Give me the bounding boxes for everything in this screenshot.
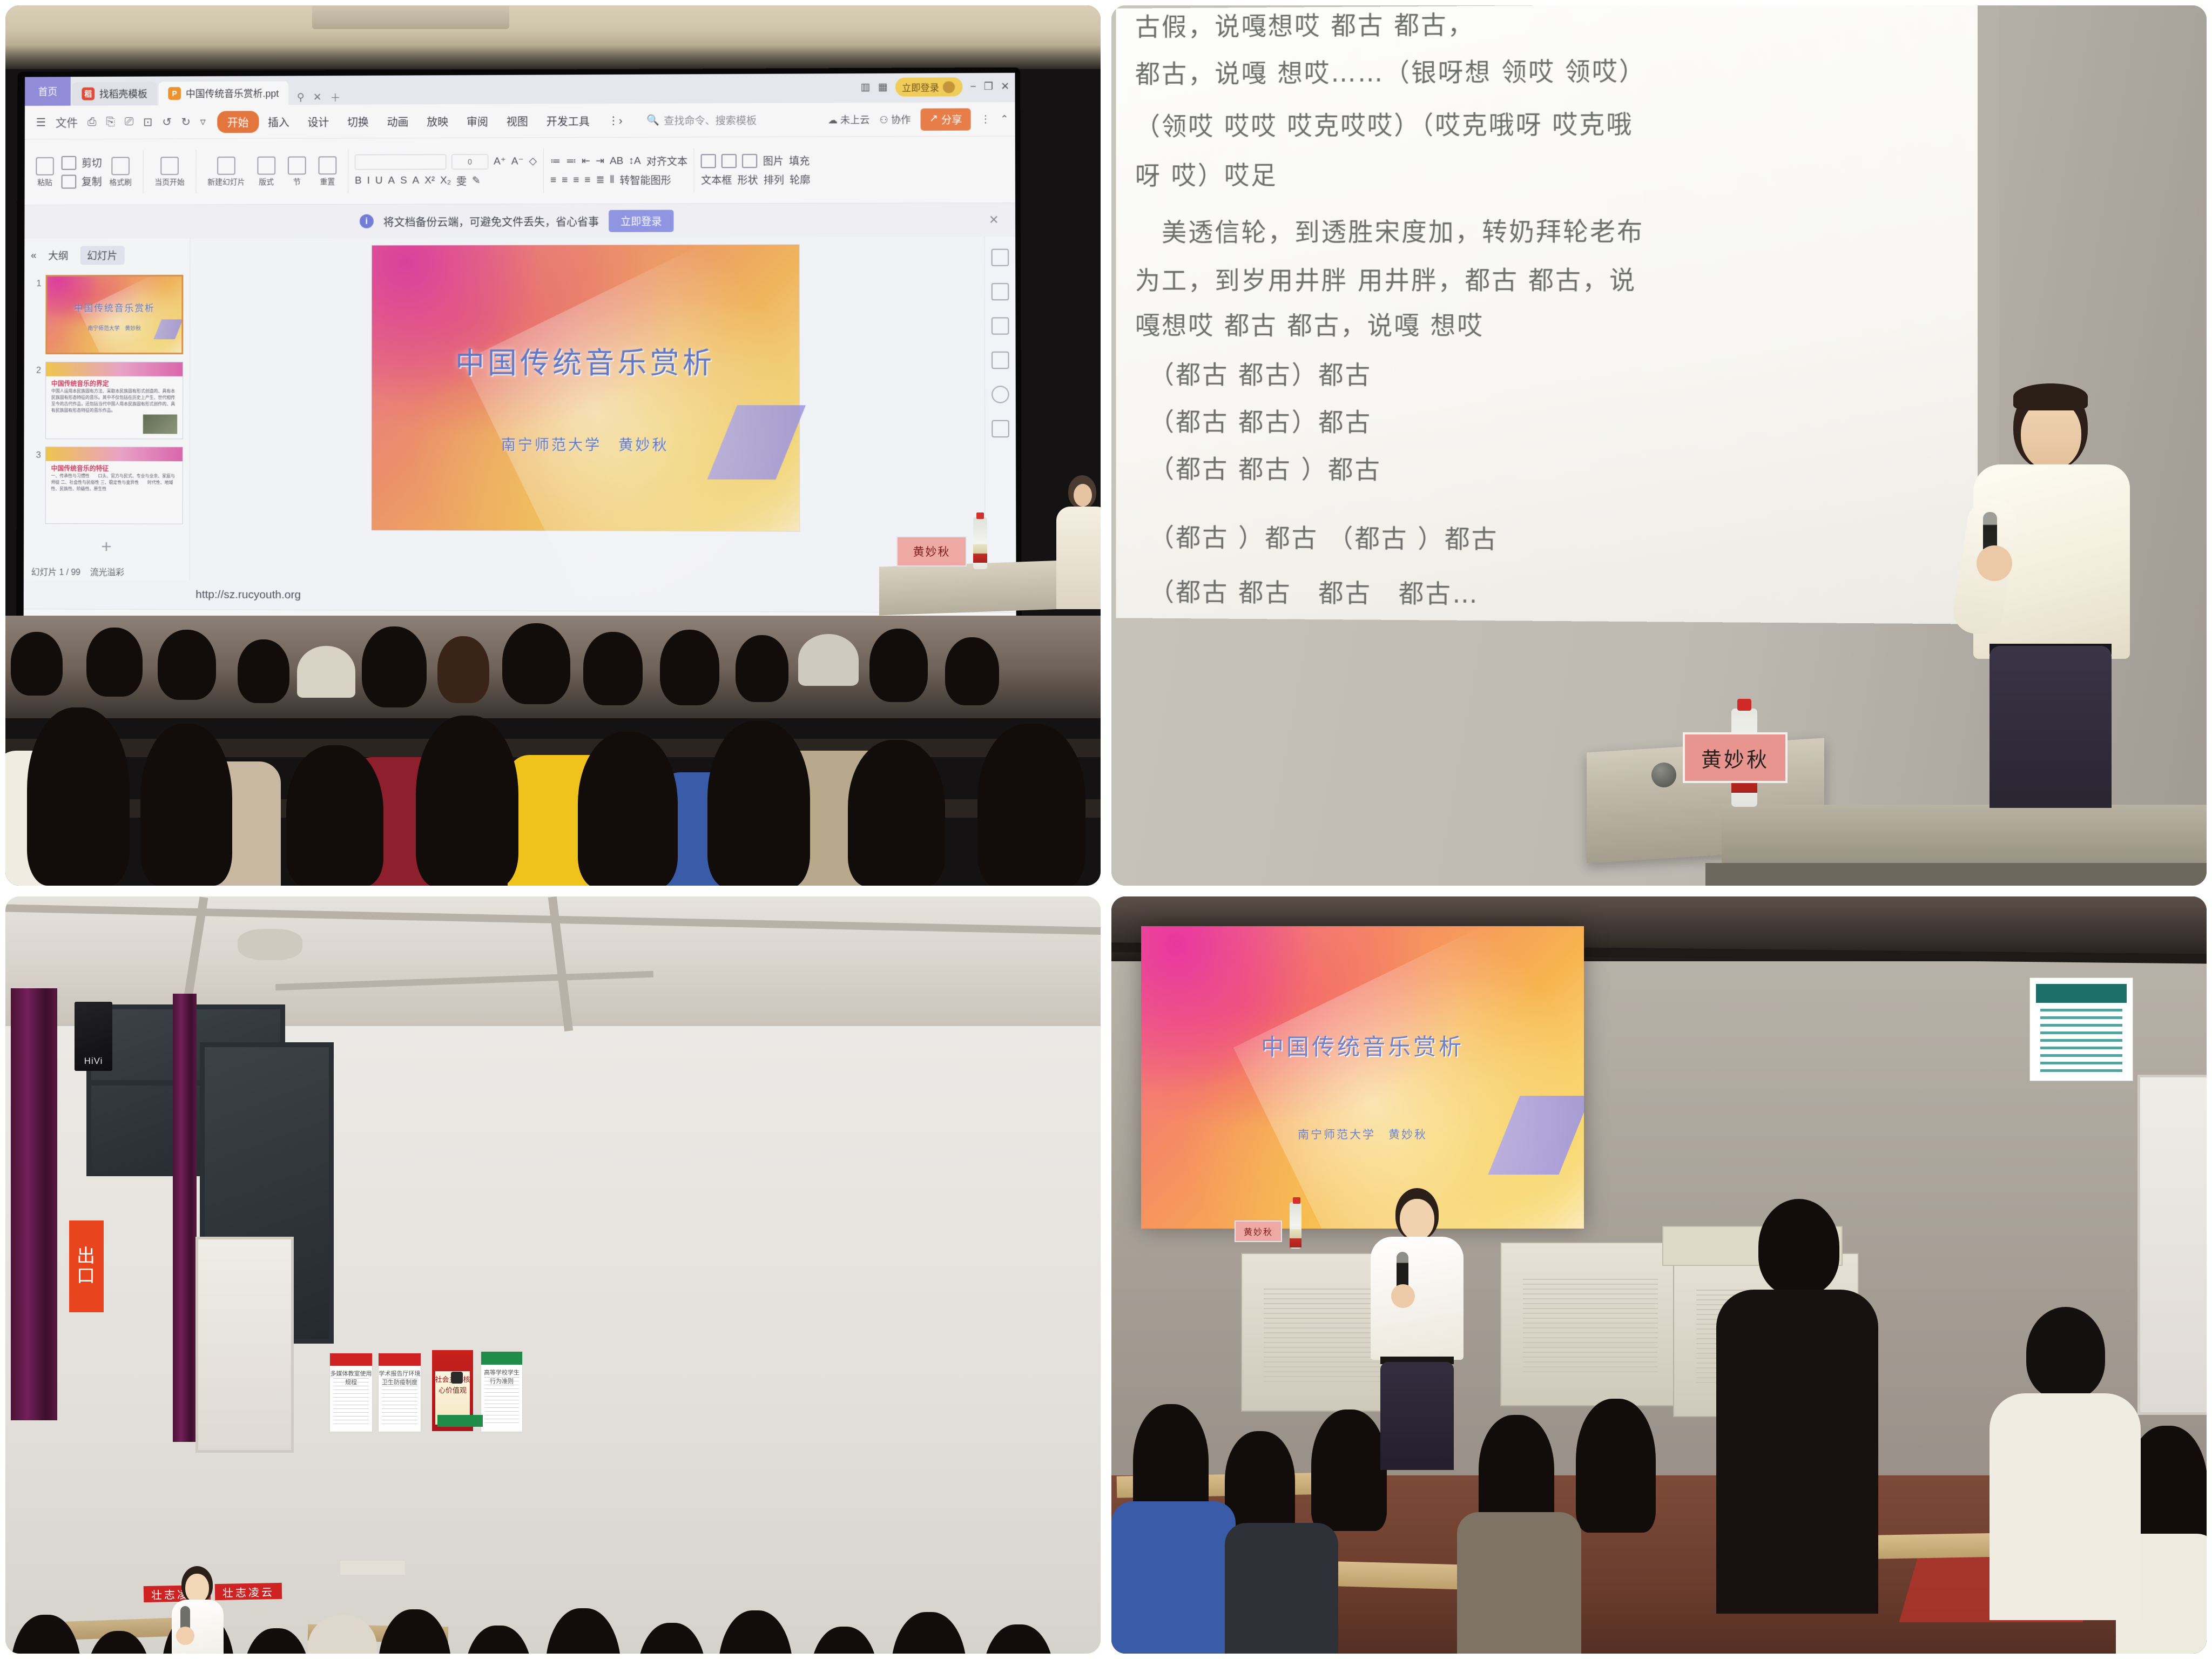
cloud-status[interactable]: ☁ 未上云 xyxy=(828,112,870,126)
tab-label: 找稻壳模板 xyxy=(99,86,147,100)
room-door xyxy=(2137,1075,2207,1415)
chart-header xyxy=(2036,984,2126,1002)
font-row: 0 A⁺ A⁻ ◇ xyxy=(355,154,537,170)
undo-icon[interactable]: ↺ xyxy=(158,115,175,129)
paste-icon xyxy=(36,157,54,175)
curtain xyxy=(173,994,197,1442)
current-slide[interactable]: 中国传统音乐赏析 南宁师范大学 黄妙秋 xyxy=(372,245,799,531)
slide-number: 1 xyxy=(31,275,42,289)
reset-button[interactable]: 重置 xyxy=(314,156,342,187)
shape-row-b: 文本框 形状 排列 轮廓 xyxy=(701,172,810,187)
presenter xyxy=(167,1566,227,1654)
tab-slides[interactable]: 幻灯片 xyxy=(80,246,124,265)
speaker-brand: HiVi xyxy=(84,1056,103,1067)
curtain xyxy=(11,988,57,1420)
font-family-input[interactable] xyxy=(355,154,446,169)
wps-toolbar: 粘贴 剪切 复制 格式刷 当页开始 新建幻灯片 版式 节 重置 xyxy=(25,136,1015,205)
layout-icon xyxy=(257,156,275,174)
close-icon[interactable]: ✕ xyxy=(313,91,322,104)
copy-icon xyxy=(62,174,77,188)
tab-presentation-file[interactable]: P 中国传统音乐赏析.ppt xyxy=(158,81,288,105)
audience-head xyxy=(945,637,999,705)
poster-footer xyxy=(437,1415,483,1427)
exit-char-1: 出 xyxy=(77,1246,96,1266)
line-spacing-icon[interactable]: ↕A xyxy=(629,155,640,167)
wall-poster: 高等学校学生行为准则 xyxy=(481,1351,523,1432)
shape-row-a: 图片 填充 xyxy=(701,153,810,168)
head xyxy=(1758,1199,1839,1295)
list-row: ≔ ≕ ⇤ ⇥ AB ↕A 对齐文本 xyxy=(550,153,687,168)
right-tool-rail xyxy=(984,237,1016,583)
audience-area xyxy=(5,616,1101,886)
vent xyxy=(1523,1279,1658,1376)
lyric-line: 古假，说嘎想哎 都古 都古， xyxy=(1135,8,1474,44)
minimize-button[interactable]: − xyxy=(970,81,976,93)
water-bottle xyxy=(1290,1202,1301,1249)
clipboard-small-group: 剪切 复制 xyxy=(62,156,102,189)
avatar xyxy=(943,81,955,93)
slide-thumbnail-pane: « 大纲 幻灯片 1 中国传统音乐赏析 南宁师范大学 黄妙秋 xyxy=(24,238,191,580)
text-direction-icon[interactable]: AB xyxy=(610,155,623,167)
tab-developer[interactable]: 开发工具 xyxy=(537,109,599,131)
format-row: B I U A S A X² X₂ 雯 ✎ xyxy=(355,173,537,188)
fill-label[interactable]: 填充 xyxy=(789,153,810,168)
thumb-heading: 中国传统音乐的界定 xyxy=(51,379,109,388)
picture-label[interactable]: 图片 xyxy=(763,153,784,168)
file-menu-icon[interactable]: ☰ xyxy=(32,116,50,129)
play-circle-icon xyxy=(160,157,179,175)
textbox-button[interactable]: 文本框 xyxy=(701,172,732,187)
align-center-icon[interactable]: ≡ xyxy=(562,174,568,186)
smartart-button[interactable]: 转智能图形 xyxy=(619,173,671,187)
wall-poster: 学术报告厅环境卫生防疫制度 xyxy=(378,1353,421,1432)
ceiling-and-projector-rail xyxy=(5,5,1101,69)
torso xyxy=(1716,1290,1878,1614)
close-window-button[interactable]: ✕ xyxy=(1001,80,1009,93)
image-tools-icon[interactable] xyxy=(992,352,1009,369)
drawing-group: 图片 填充 文本框 形状 排列 轮廓 xyxy=(701,153,810,187)
decrease-indent-icon[interactable]: ⇤ xyxy=(582,155,590,167)
tab-design[interactable]: 设计 xyxy=(298,110,338,132)
clear-format-icon[interactable]: ◇ xyxy=(529,155,537,167)
slide-header-bar xyxy=(46,447,183,461)
hand xyxy=(176,1627,194,1645)
desk-rail xyxy=(1705,863,2207,886)
slide-background xyxy=(47,276,181,353)
trousers xyxy=(1990,646,2112,808)
tab-view[interactable]: 视图 xyxy=(497,110,537,132)
name-placard: 黄妙秋 xyxy=(1235,1220,1282,1242)
audience-head xyxy=(848,740,945,886)
split-view-icon[interactable]: ▥ xyxy=(860,81,870,93)
hand xyxy=(1391,1284,1415,1308)
info-icon: i xyxy=(360,214,374,228)
divider xyxy=(195,150,196,193)
lyric-line: 美透信轮，到透胜宋度加，转奶拜轮老布 xyxy=(1135,215,1644,250)
classroom-door xyxy=(195,1237,294,1453)
tab-label: 中国传统音乐赏析.ppt xyxy=(186,86,279,100)
audience-torso xyxy=(1111,1501,1236,1654)
blouse xyxy=(1371,1237,1464,1360)
grid-view-icon[interactable]: ▦ xyxy=(878,81,888,93)
audience-head xyxy=(977,724,1085,886)
audience-head xyxy=(502,623,570,704)
print-icon[interactable]: ⎚ xyxy=(121,116,137,129)
search-box[interactable]: 🔍 查找命令、搜索模板 xyxy=(647,112,757,127)
collapse-pane-icon[interactable]: « xyxy=(31,249,36,261)
font-group: 0 A⁺ A⁻ ◇ B I U A S A X² xyxy=(355,154,537,188)
window-controls: ▥ ▦ 立即登录 − ❐ ✕ xyxy=(860,77,1009,97)
numbered-list-icon[interactable]: ≕ xyxy=(566,155,576,167)
maximize-button[interactable]: ❐ xyxy=(984,80,993,93)
lyric-line: 呀 哎）哎足 xyxy=(1135,159,1278,193)
slide-thumbnail-3[interactable]: 中国传统音乐的特征 一、传承性与习惯性 口头、官方与民式、专业与业余、家庭与师徒… xyxy=(45,447,183,524)
screen-cast-icon[interactable] xyxy=(992,317,1009,334)
tab-slideshow[interactable]: 放映 xyxy=(417,110,457,132)
pinyin-icon[interactable]: 雯 xyxy=(456,173,467,188)
audience-head xyxy=(416,716,518,886)
slide-counter: 幻灯片 1 / 99 xyxy=(31,565,80,578)
tab-start[interactable]: 开始 xyxy=(217,111,259,133)
poster-text xyxy=(382,1378,417,1425)
divider xyxy=(348,149,348,193)
text-effect-button[interactable]: A xyxy=(388,175,395,187)
tab-animation[interactable]: 动画 xyxy=(378,110,418,132)
audience-head xyxy=(86,628,143,697)
font-color-button[interactable]: A xyxy=(413,175,420,187)
doc-search-icon[interactable] xyxy=(992,420,1009,437)
start-from-current-button[interactable]: 当页开始 xyxy=(150,157,189,187)
lyric-line: （都古 都古）都古 xyxy=(1135,405,1372,440)
hand xyxy=(1977,545,2012,581)
slide-thumbnail-2[interactable]: 中国传统音乐的界定 中国人运用本民族固有方法、采取本民族固有形式创造的、具有本民… xyxy=(45,362,183,439)
lyric-line: （领哎 哎哎 哎克哎哎）（哎克哦呀 哎克哦 xyxy=(1135,107,1634,144)
torso xyxy=(1990,1393,2141,1620)
hair xyxy=(2013,383,2088,410)
wps-presentation-window: 首页 稻 找稻壳模板 P 中国传统音乐赏析.ppt ⚲ ✕ ＋ xyxy=(24,73,1016,650)
audience-head xyxy=(140,724,232,886)
microphone-head xyxy=(1651,763,1676,787)
slide-title: 中国传统音乐赏析 xyxy=(1141,1029,1584,1062)
layout-button[interactable]: 版式 xyxy=(252,156,280,187)
thumb-pane-header: « 大纲 幻灯片 xyxy=(24,242,190,271)
decrease-font-icon[interactable]: A⁻ xyxy=(511,155,524,167)
projected-lyrics-screen: 古假，说嘎想哎 都古 都古， 都古，说嘎 想哎……（银呀想 领哎 领哎） （领哎… xyxy=(1116,5,1996,624)
audience-head xyxy=(286,745,383,886)
hivi-wall-speaker: HiVi xyxy=(75,1002,112,1071)
projection-screen: 中国传统音乐赏析 南宁师范大学 黄妙秋 xyxy=(1141,926,1584,1229)
cloud-icon: ☁ xyxy=(828,114,838,125)
audience-head xyxy=(158,630,216,700)
equipment-cabinet xyxy=(1500,1242,1681,1406)
picture-icon[interactable] xyxy=(742,154,757,168)
thumb-subtitle: 南宁师范大学 黄妙秋 xyxy=(47,323,181,332)
audience-head xyxy=(736,635,788,702)
audience-head xyxy=(1576,1399,1656,1533)
textbox-icon[interactable] xyxy=(701,154,716,168)
audience-head xyxy=(583,632,643,705)
paste-button[interactable]: 粘贴 xyxy=(31,157,58,187)
poster-header xyxy=(481,1352,522,1365)
presenter-silhouette xyxy=(1053,475,1101,610)
cut-button[interactable]: 剪切 xyxy=(62,156,102,170)
exit-char-2: 口 xyxy=(77,1266,96,1286)
lyric-line: （都古 都古 都古 都古… xyxy=(1135,575,1479,611)
lyric-line: 为工，到岁用井胖 用井胖，都古 都古，说 xyxy=(1135,264,1636,298)
face xyxy=(1074,484,1092,507)
thumb-heading: 中国传统音乐的特征 xyxy=(51,464,109,473)
wall-poster: 多媒体教室使用规程 xyxy=(329,1353,373,1432)
save-icon[interactable]: ⎙ xyxy=(84,116,100,129)
name-placard: 黄妙秋 xyxy=(1683,732,1788,783)
slide-subtitle: 南宁师范大学 黄妙秋 xyxy=(1141,1126,1584,1142)
slide-subtitle: 南宁师范大学 黄妙秋 xyxy=(372,433,799,455)
tab-template-store[interactable]: 稻 找稻壳模板 xyxy=(72,82,157,105)
share-icon: ↗ xyxy=(929,112,938,126)
underline-button[interactable]: U xyxy=(375,175,383,187)
strikethrough-button[interactable]: S xyxy=(400,175,407,187)
audience-head xyxy=(238,639,289,703)
standing-student xyxy=(1986,1307,2143,1609)
thumb-image xyxy=(143,414,177,434)
wall-org-chart xyxy=(2029,977,2133,1081)
divider xyxy=(543,149,544,193)
slide-background xyxy=(372,245,799,531)
poster-header xyxy=(330,1353,372,1366)
tab-review[interactable]: 审阅 xyxy=(457,110,497,132)
audience-head xyxy=(11,632,63,696)
reset-icon xyxy=(319,156,337,174)
projection-screen: 首页 稻 找稻壳模板 P 中国传统音乐赏析.ppt ⚲ ✕ ＋ xyxy=(16,68,1022,652)
poster-text xyxy=(333,1378,369,1425)
audience-head-cap xyxy=(798,634,859,686)
head xyxy=(2026,1307,2105,1399)
pin-icon[interactable]: ⚲ xyxy=(297,91,305,104)
trousers xyxy=(1380,1362,1454,1470)
new-tab-icon[interactable]: ＋ xyxy=(330,90,340,105)
ceiling-fixture xyxy=(238,929,302,960)
divider xyxy=(694,148,694,192)
tab-outline[interactable]: 大纲 xyxy=(48,248,69,262)
thumb-body: 一、传承性与习惯性 口头、官方与民式、专业与业余、家庭与师徒 二、社会性与民俗性… xyxy=(51,473,178,493)
audience-head xyxy=(578,732,678,886)
subscript-icon[interactable]: X₂ xyxy=(440,175,451,187)
slide-content: 中国传统音乐的界定 中国人运用本民族固有方法、采取本民族固有形式创造的、具有本民… xyxy=(46,362,183,439)
slide-title: 中国传统音乐赏析 xyxy=(372,339,800,382)
photo-collage: 首页 稻 找稻壳模板 P 中国传统音乐赏析.ppt ⚲ ✕ ＋ xyxy=(0,0,2212,1659)
lyric-line: （都古 都古）都古 xyxy=(1135,358,1372,393)
slide-content: 中国传统音乐的特征 一、传承性与习惯性 口头、官方与民式、专业与业余、家庭与师徒… xyxy=(46,447,183,524)
wall-plate xyxy=(340,1561,405,1575)
audience-head xyxy=(437,636,489,703)
save-as-icon[interactable]: ⎘ xyxy=(102,116,118,129)
bullet-list-icon[interactable]: ≔ xyxy=(550,155,561,167)
wps-tab-strip: 首页 稻 找稻壳模板 P 中国传统音乐赏析.ppt ⚲ ✕ ＋ xyxy=(25,73,1015,106)
presenter xyxy=(1365,1188,1468,1469)
distribute-icon[interactable]: ≣ xyxy=(596,174,604,186)
audience-head xyxy=(869,629,928,702)
italic-button[interactable]: I xyxy=(367,175,370,187)
exit-sign: 出 口 xyxy=(69,1220,104,1312)
share-button[interactable]: ↗分享 xyxy=(920,108,970,130)
settings-slider-icon[interactable] xyxy=(992,249,1009,266)
wps-workspace: « 大纲 幻灯片 1 中国传统音乐赏析 南宁师范大学 黄妙秋 xyxy=(24,237,1016,583)
design-idea-icon[interactable] xyxy=(992,386,1009,403)
wps-ribbon-tabs: ☰ 文件 ⎙ ⎘ ⎚ ⊡ ↺ ↻ ▿ 开始 插入 设计 切换 动画 放映 xyxy=(25,102,1015,139)
chart-body xyxy=(2040,1009,2122,1073)
slide-number: 2 xyxy=(31,362,42,376)
file-menu-label[interactable]: 文件 xyxy=(52,114,82,130)
slide-header-bar xyxy=(46,362,183,376)
panel-lecture-hall-projection: 首页 稻 找稻壳模板 P 中国传统音乐赏析.ppt ⚲ ✕ ＋ xyxy=(5,5,1101,886)
increase-indent-icon[interactable]: ⇥ xyxy=(596,155,604,167)
more-options-icon[interactable]: ⋮ xyxy=(981,113,990,125)
search-placeholder: 查找命令、搜索模板 xyxy=(664,112,757,127)
outline-button[interactable]: 轮廓 xyxy=(790,172,810,187)
list-item[interactable]: 1 中国传统音乐赏析 南宁师范大学 黄妙秋 xyxy=(24,271,190,358)
panel-lyrics-projection: 古假，说嘎想哎 都古 都古， 都古，说嘎 想哎……（银呀想 领哎 领哎） （领哎… xyxy=(1111,5,2207,886)
cut-icon xyxy=(62,156,77,170)
face xyxy=(185,1574,209,1603)
home-tab[interactable]: 首页 xyxy=(25,77,71,106)
slide-editing-area[interactable]: 中国传统音乐赏析 南宁师范大学 黄妙秋 xyxy=(190,237,984,583)
standing-student xyxy=(1716,1199,1878,1609)
water-bottle xyxy=(973,517,987,569)
copy-button[interactable]: 复制 xyxy=(62,174,102,188)
lyric-line: 都古，说嘎 想哎……（银呀想 领哎 领哎） xyxy=(1135,55,1646,91)
ribbon-right-actions: ☁ 未上云 ⚇ 协作 ↗分享 ⋮ ⌃ xyxy=(828,108,1009,131)
align-left-icon[interactable]: ≡ xyxy=(550,174,556,186)
blouse xyxy=(172,1600,224,1654)
poster-header xyxy=(379,1353,421,1366)
section-button[interactable]: 节 xyxy=(283,156,311,187)
poster-text xyxy=(484,1377,519,1425)
presenter xyxy=(1964,383,2142,810)
login-label: 立即登录 xyxy=(902,80,939,93)
thumb-title: 中国传统音乐赏析 xyxy=(47,301,181,314)
new-slide-button[interactable]: 新建幻灯片 xyxy=(203,156,249,187)
align-row: ≡ ≡ ≡ ≡ ≣ ⫴ 转智能图形 xyxy=(550,172,687,187)
new-slide-icon xyxy=(217,156,235,174)
columns-icon[interactable]: ⫴ xyxy=(610,174,614,186)
print-preview-icon[interactable]: ⊡ xyxy=(139,115,156,129)
lyric-line: （都古 ）都古 （都古 ）都古 xyxy=(1135,521,1499,557)
panel-presenter-with-slide: 中国传统音乐赏析 南宁师范大学 黄妙秋 黄妙秋 xyxy=(1111,896,2207,1654)
theme-name: 流光溢彩 xyxy=(90,565,124,578)
collaborate-button[interactable]: ⚇ 协作 xyxy=(880,112,911,126)
increase-font-icon[interactable]: A⁺ xyxy=(494,155,506,167)
audience-torso xyxy=(1225,1523,1338,1654)
url-text: http://sz.rucyouth.org xyxy=(24,579,1016,612)
shape-icon[interactable] xyxy=(721,154,737,168)
section-icon xyxy=(288,156,306,174)
tab-transition[interactable]: 切换 xyxy=(338,110,378,132)
list-item[interactable]: 3 中国传统音乐的特征 一、传承性与习惯性 口头、官方与民式、专业与业余、家庭与… xyxy=(24,443,190,528)
audience-torso xyxy=(1457,1512,1581,1654)
projector-mount xyxy=(451,1372,463,1384)
magic-star-icon[interactable] xyxy=(992,283,1009,300)
tab-tools: ⚲ ✕ ＋ xyxy=(297,90,340,105)
login-button[interactable]: 立即登录 xyxy=(895,77,962,97)
audience-head-cap xyxy=(297,646,355,698)
align-text-button[interactable]: 对齐文本 xyxy=(646,153,687,168)
slide-thumbnail-1[interactable]: 中国传统音乐赏析 南宁师范大学 黄妙秋 xyxy=(45,275,183,354)
panel-classroom-wide: HiVi 出 口 多媒体教室使用规程 学术报告厅环境卫生防疫制度 社会主义核心价… xyxy=(5,896,1101,1654)
torso xyxy=(1056,507,1101,609)
customize-icon[interactable]: ▿ xyxy=(197,115,210,129)
shape-button[interactable]: 形状 xyxy=(737,172,758,187)
slide-status-left: 幻灯片 1 / 99 流光溢彩 xyxy=(24,565,190,578)
cloud-backup-notification: i 将文档备份云端，可避免文件丢失，省心省事 立即登录 ✕ xyxy=(24,203,1015,239)
list-item[interactable]: 2 中国传统音乐的界定 中国人运用本民族固有方法、采取本民族固有形式创造的、具有… xyxy=(24,358,190,443)
divider xyxy=(143,150,144,194)
collapse-ribbon-icon[interactable]: ⌃ xyxy=(1000,113,1008,125)
ribbon-overflow-icon[interactable]: ⋮› xyxy=(599,110,632,130)
audience-head xyxy=(707,721,810,886)
font-size-input[interactable]: 0 xyxy=(451,154,488,169)
ribbon-tab-list: 开始 插入 设计 切换 动画 放映 审阅 视图 开发工具 ⋮› xyxy=(217,109,632,133)
format-painter-icon xyxy=(111,157,130,175)
name-placard: 黄妙秋 xyxy=(896,536,967,567)
slide-background xyxy=(1141,926,1584,1229)
lyric-line: （都古 都古 ）都古 xyxy=(1135,452,1381,487)
align-right-icon[interactable]: ≡ xyxy=(573,174,579,186)
highlight-icon[interactable]: ✎ xyxy=(472,174,481,187)
audience-head xyxy=(362,626,427,707)
search-icon: 🔍 xyxy=(647,114,660,127)
arrange-button[interactable]: 排列 xyxy=(764,172,784,187)
slide-number: 3 xyxy=(30,447,41,461)
close-icon[interactable]: ✕ xyxy=(989,213,999,227)
lyric-line: 嘎想哎 都古 都古，说嘎 想哎 xyxy=(1135,309,1484,343)
wps-ppt-icon: P xyxy=(168,87,181,100)
paragraph-group: ≔ ≕ ⇤ ⇥ AB ↕A 对齐文本 ≡ ≡ ≡ ≡ xyxy=(550,153,687,187)
notification-text: 将文档备份云端，可避免文件丢失，省心省事 xyxy=(383,213,599,229)
justify-icon[interactable]: ≡ xyxy=(584,174,590,186)
thumb-body: 中国人运用本民族固有方法、采取本民族固有形式创造的、具有本民族固有形态特征的音乐… xyxy=(51,388,178,414)
notification-login-button[interactable]: 立即登录 xyxy=(609,210,673,232)
people-icon: ⚇ xyxy=(880,114,888,125)
face xyxy=(1400,1199,1434,1240)
format-painter-button[interactable]: 格式刷 xyxy=(104,157,136,187)
add-slide-button[interactable]: + xyxy=(24,528,190,558)
superscript-icon[interactable]: X² xyxy=(424,175,435,187)
redo-icon[interactable]: ↻ xyxy=(177,115,194,129)
wps-template-icon: 稻 xyxy=(82,87,95,100)
audience-head xyxy=(660,630,719,705)
bold-button[interactable]: B xyxy=(355,175,362,187)
audience-head xyxy=(27,707,130,886)
tab-insert[interactable]: 插入 xyxy=(259,111,298,133)
